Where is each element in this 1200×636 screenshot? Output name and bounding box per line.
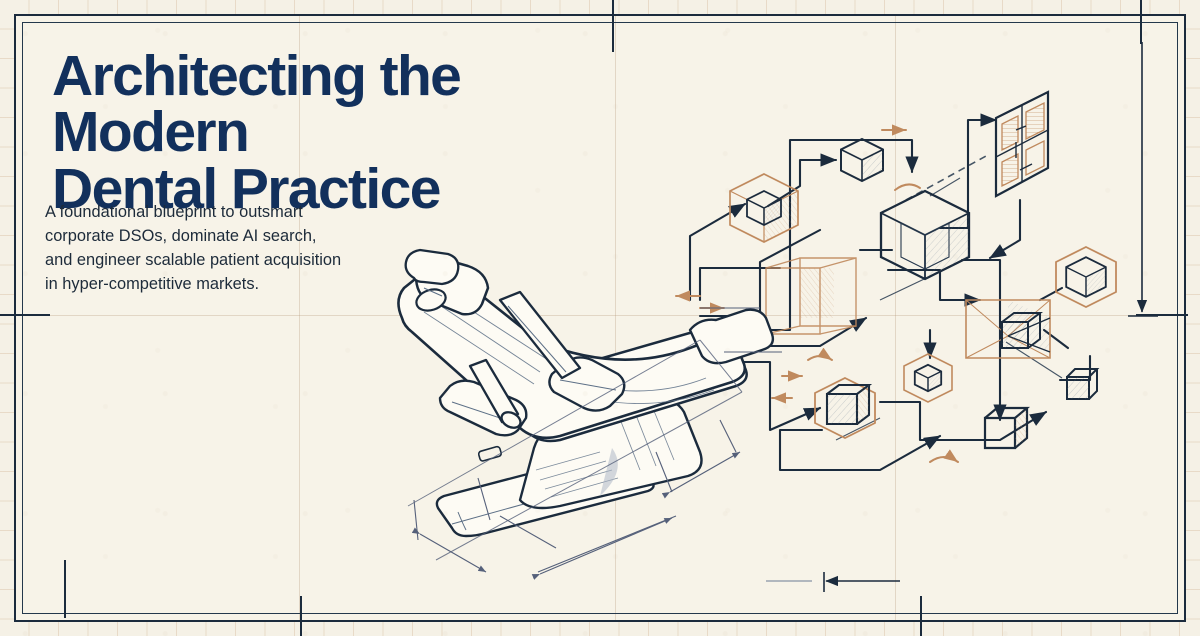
poster-canvas: Architecting the Modern Dental Practice … [0, 0, 1200, 636]
registration-tick-bottom [300, 596, 302, 636]
page-subtitle: A foundational blueprint to outsmart cor… [45, 200, 393, 296]
registration-tick-right [1136, 314, 1188, 316]
registration-tick-top [612, 0, 614, 52]
registration-tick-left [0, 314, 50, 316]
page-title: Architecting the Modern Dental Practice [52, 48, 612, 217]
registration-tick-bottomleft [64, 560, 66, 618]
registration-tick-topright [1140, 0, 1142, 44]
registration-tick-bottom-2 [920, 596, 922, 636]
